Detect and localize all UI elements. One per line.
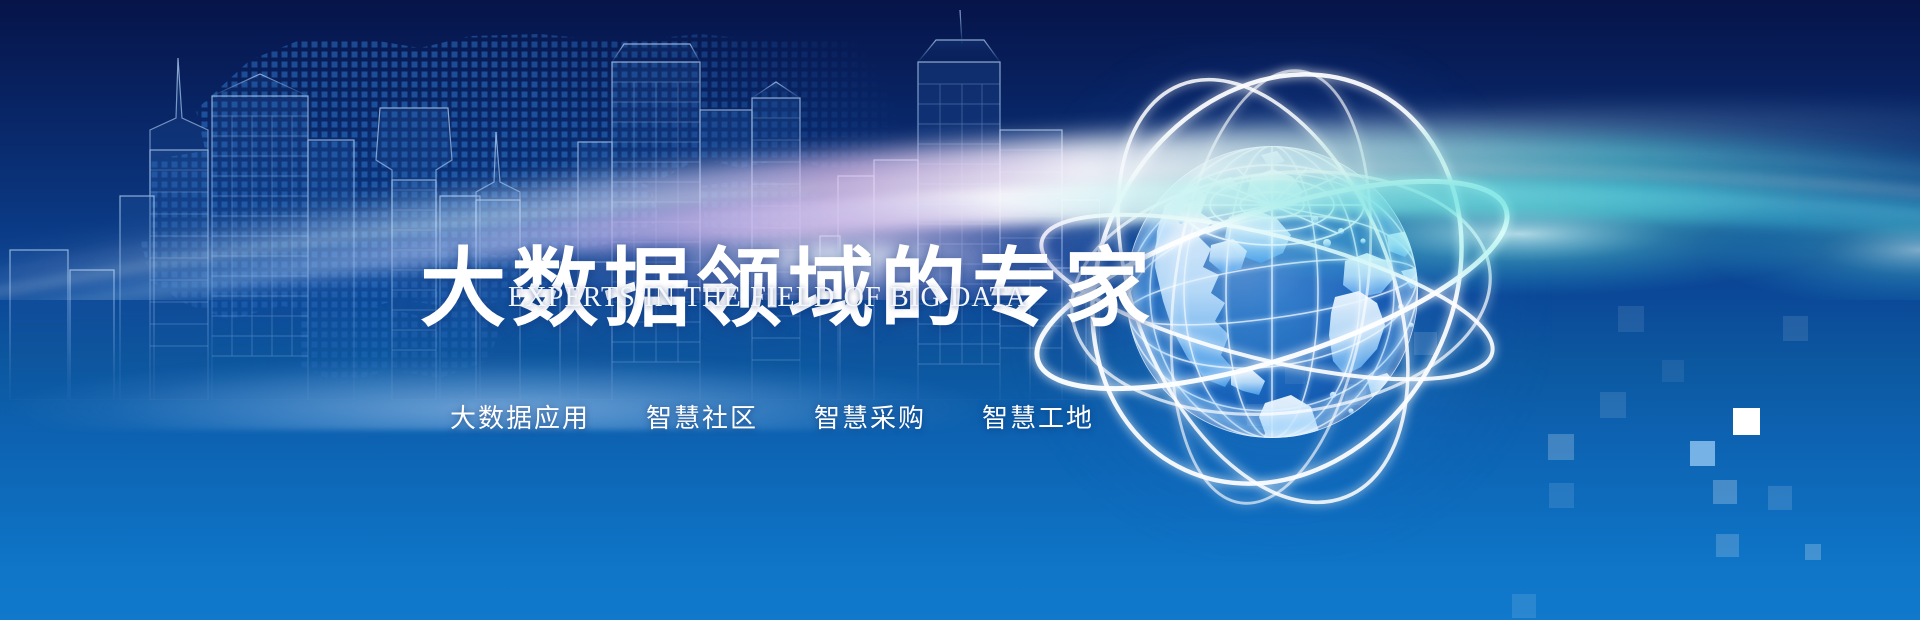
big-data-hero-banner: 大数据领域的专家 EXPERTS IN THE FIELD OF BIG DAT… — [0, 0, 1920, 620]
mosaic-square — [1662, 360, 1684, 382]
mosaic-square — [1733, 408, 1760, 435]
tagline-list: 大数据应用智慧社区智慧采购智慧工地 — [450, 398, 1094, 435]
mosaic-square — [1716, 534, 1739, 557]
mosaic-square — [1805, 544, 1821, 560]
mosaic-square — [1690, 441, 1715, 466]
mosaic-square — [1285, 364, 1305, 384]
tagline-item[interactable]: 大数据应用 — [450, 398, 590, 435]
tagline-item[interactable]: 智慧采购 — [814, 398, 926, 435]
mosaic-square — [1548, 434, 1574, 460]
mosaic-square — [1247, 404, 1269, 426]
mosaic-square — [1618, 306, 1644, 332]
mosaic-square — [1549, 483, 1574, 508]
mosaic-square — [1345, 384, 1366, 405]
tagline-item[interactable]: 智慧社区 — [646, 398, 758, 435]
mosaic-square — [1768, 486, 1792, 510]
mosaic-square — [1512, 594, 1536, 618]
tagline-item[interactable]: 智慧工地 — [982, 398, 1094, 435]
mosaic-square — [1783, 316, 1808, 341]
page-subtitle: EXPERTS IN THE FIELD OF BIG DATA — [508, 284, 1027, 312]
mosaic-square — [1414, 332, 1437, 355]
mosaic-square — [1713, 480, 1737, 504]
mosaic-square — [1600, 392, 1626, 418]
banner-copy: 大数据领域的专家 EXPERTS IN THE FIELD OF BIG DAT… — [0, 0, 1000, 620]
